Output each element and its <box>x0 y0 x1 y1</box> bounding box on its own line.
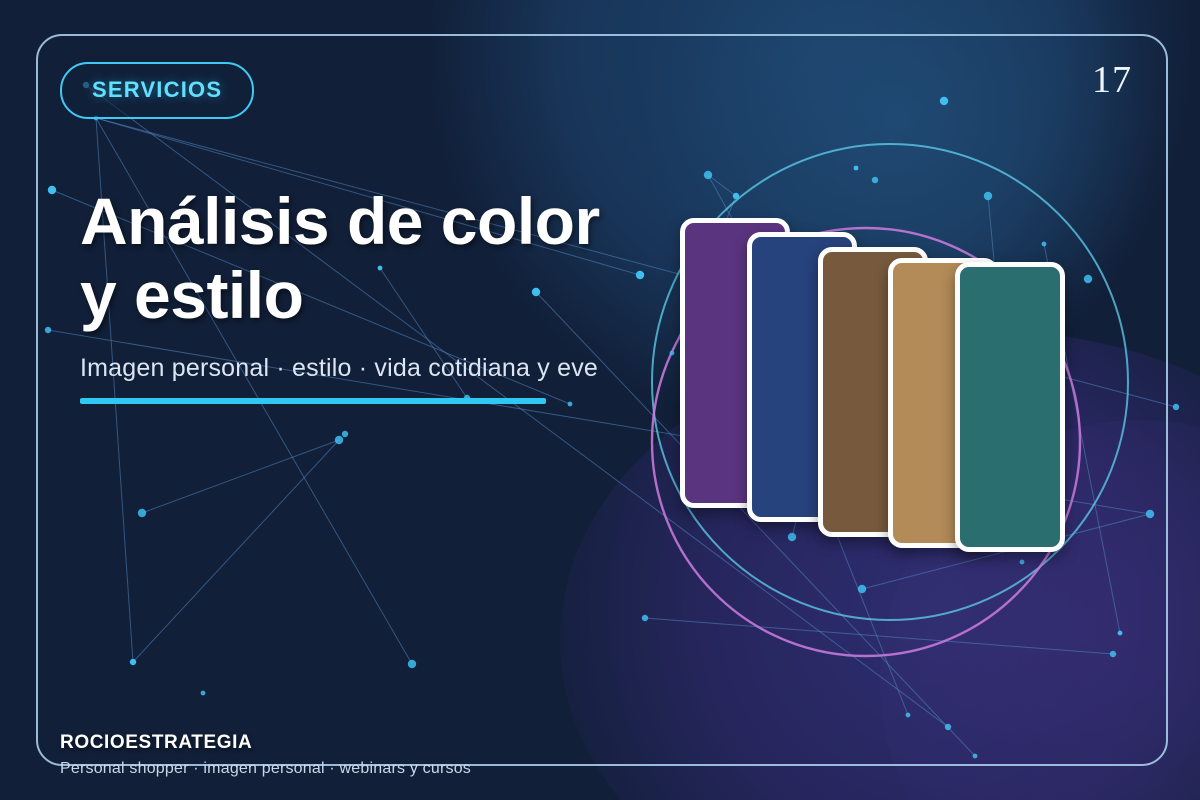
headline-block: Análisis de color y estilo Imagen person… <box>80 184 700 404</box>
brand-tagline: Personal shopper · imagen personal · web… <box>60 760 471 778</box>
color-card-teal[interactable] <box>955 262 1065 552</box>
accent-underline-bar <box>80 398 546 404</box>
page-subtitle: Imagen personal · estilo · vida cotidian… <box>80 354 700 383</box>
page-title: Análisis de color y estilo <box>80 184 700 332</box>
slide-canvas: SERVICIOS 17 Análisis de color y estilo … <box>0 0 1200 800</box>
footer: ROCIOESTRATEGIA Personal shopper · image… <box>60 732 471 778</box>
brand-name: ROCIOESTRATEGIA <box>60 732 471 754</box>
